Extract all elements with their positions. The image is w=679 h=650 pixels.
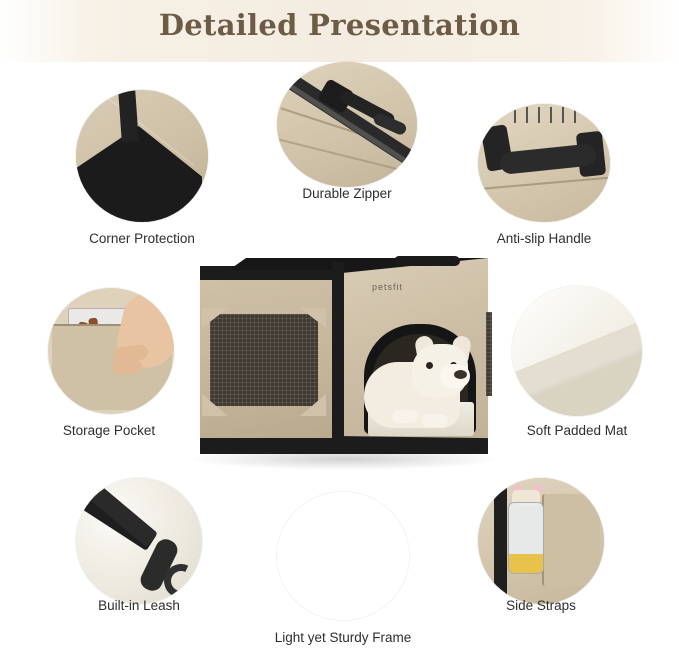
caption-storage-pocket: Storage Pocket: [7, 423, 211, 438]
mesh-window-front: [210, 314, 318, 406]
caption-side-straps: Side Straps: [439, 598, 643, 613]
mesh-window-side: [486, 312, 492, 396]
anti-slip-handle-image: [478, 104, 610, 222]
crate-top-handle: [394, 256, 460, 266]
caption-durable-zipper: Durable Zipper: [245, 186, 449, 201]
crate-trim-bottom: [200, 438, 342, 454]
caption-anti-slip-handle: Anti-slip Handle: [442, 231, 646, 246]
crate-trim-bottom-side: [336, 436, 488, 454]
brand-label: petsfit: [372, 282, 442, 294]
page-title: Detailed Presentation: [0, 8, 679, 42]
frame-image: [277, 492, 409, 620]
crate-edge-vertical: [332, 262, 344, 454]
caption-built-in-leash: Built-in Leash: [37, 598, 241, 613]
side-straps-image: [478, 478, 604, 604]
dog-nose: [454, 370, 467, 379]
presentation-page: Detailed Presentation Corner Protection …: [0, 0, 679, 650]
corner-protection-image: [76, 90, 208, 222]
built-in-leash-image: [76, 478, 202, 604]
storage-pocket-image: [48, 288, 174, 414]
soft-padded-mat-image: [512, 286, 642, 416]
dog-paw-left: [392, 410, 418, 423]
dog-eye-left: [426, 362, 433, 369]
caption-corner-protection: Corner Protection: [40, 231, 244, 246]
dog-paw-right: [422, 414, 448, 427]
product-photo: petsfit: [186, 252, 506, 474]
durable-zipper-image: [277, 62, 417, 187]
caption-light-yet-sturdy-frame: Light yet Sturdy Frame: [241, 630, 445, 645]
crate-trim-top: [200, 270, 342, 280]
